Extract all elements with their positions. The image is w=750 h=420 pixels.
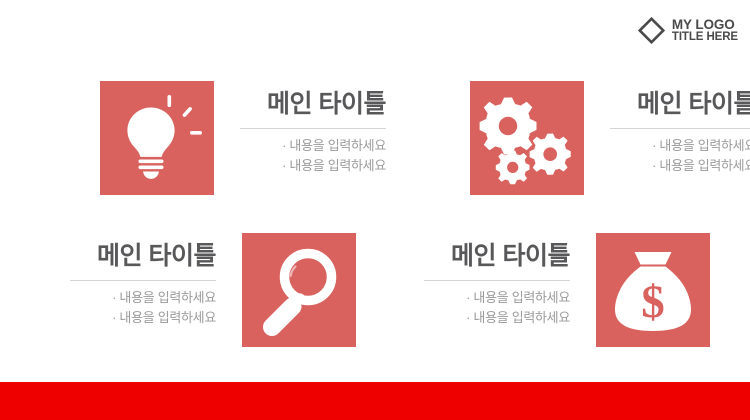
bottom-accent-bar	[0, 382, 750, 420]
content-row-1: 메인 타이틀 · 내용을 입력하세요 · 내용을 입력하세요	[0, 81, 750, 195]
content-copy-4: 메인 타이틀 · 내용을 입력하세요 · 내용을 입력하세요	[424, 233, 570, 328]
content-copy-3: 메인 타이틀 · 내용을 입력하세요 · 내용을 입력하세요	[70, 233, 216, 328]
title-divider	[70, 280, 216, 281]
content-grid: 메인 타이틀 · 내용을 입력하세요 · 내용을 입력하세요	[0, 81, 750, 347]
block-title: 메인 타이틀	[424, 243, 570, 271]
icon-tile-money-bag: $	[596, 233, 710, 347]
block-title: 메인 타이틀	[70, 243, 216, 271]
title-divider	[610, 128, 750, 129]
content-block-4[interactable]: 메인 타이틀 · 내용을 입력하세요 · 내용을 입력하세요 $	[424, 233, 710, 347]
content-copy-1: 메인 타이틀 · 내용을 입력하세요 · 내용을 입력하세요	[240, 81, 386, 176]
block-title: 메인 타이틀	[610, 91, 750, 119]
gears-icon	[470, 81, 584, 195]
block-bullet: · 내용을 입력하세요	[424, 288, 570, 308]
logo: MY LOGO TITLE HERE	[638, 17, 738, 44]
logo-title-line2: TITLE HERE	[672, 32, 738, 44]
content-row-2: 메인 타이틀 · 내용을 입력하세요 · 내용을 입력하세요	[0, 233, 750, 347]
block-bullet: · 내용을 입력하세요	[424, 308, 570, 328]
block-bullet: · 내용을 입력하세요	[610, 156, 750, 176]
lightbulb-icon	[100, 81, 214, 195]
title-divider	[424, 280, 570, 281]
logo-text: MY LOGO TITLE HERE	[672, 18, 738, 43]
money-bag-icon: $	[596, 233, 710, 347]
block-title: 메인 타이틀	[240, 91, 386, 119]
block-bullet: · 내용을 입력하세요	[70, 308, 216, 328]
block-bullet: · 내용을 입력하세요	[70, 288, 216, 308]
icon-tile-gears	[470, 81, 584, 195]
svg-text:$: $	[641, 276, 665, 328]
content-block-1[interactable]: 메인 타이틀 · 내용을 입력하세요 · 내용을 입력하세요	[100, 81, 386, 195]
icon-tile-lightbulb	[100, 81, 214, 195]
diamond-outline-icon	[638, 17, 665, 44]
title-divider	[240, 128, 386, 129]
content-block-2[interactable]: 메인 타이틀 · 내용을 입력하세요 · 내용을 입력하세요	[470, 81, 750, 195]
icon-tile-magnifier	[242, 233, 356, 347]
block-bullet: · 내용을 입력하세요	[240, 156, 386, 176]
block-bullet: · 내용을 입력하세요	[240, 136, 386, 156]
content-copy-2: 메인 타이틀 · 내용을 입력하세요 · 내용을 입력하세요	[610, 81, 750, 176]
block-bullet: · 내용을 입력하세요	[610, 136, 750, 156]
content-block-3[interactable]: 메인 타이틀 · 내용을 입력하세요 · 내용을 입력하세요	[70, 233, 356, 347]
logo-title-line1: MY LOGO	[672, 18, 738, 32]
magnifier-icon	[242, 233, 356, 347]
